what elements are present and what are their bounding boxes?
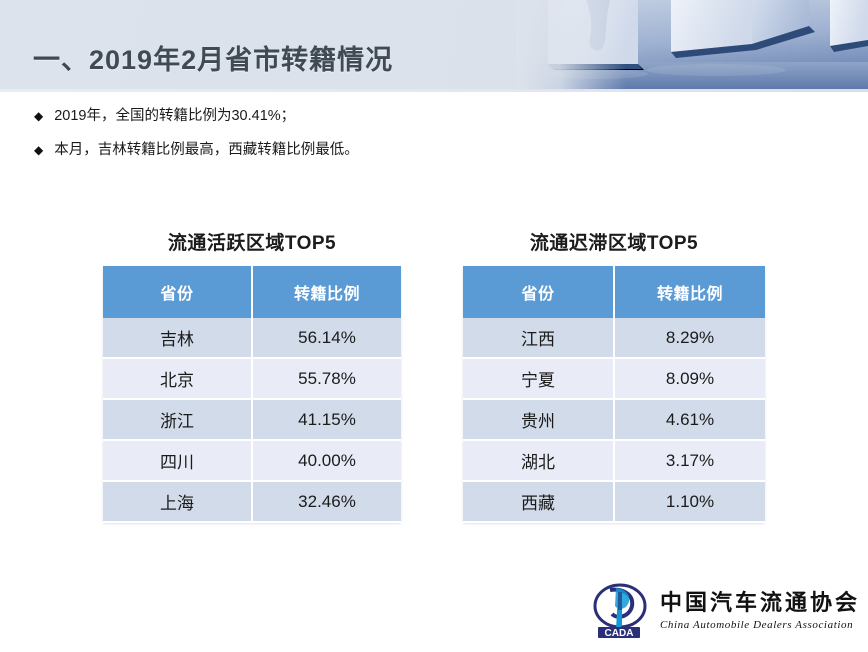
- cell-province: 四川: [103, 440, 252, 481]
- table-row: 上海 32.46%: [103, 481, 401, 522]
- lagging-regions-table: 省份 转籍比例 江西 8.29% 宁夏 8.09% 贵州 4.61%: [463, 266, 765, 523]
- cell-province: 江西: [463, 318, 614, 358]
- cell-ratio: 32.46%: [252, 481, 401, 522]
- cell-province: 湖北: [463, 440, 614, 481]
- cada-emblem-icon: CADA: [592, 580, 654, 642]
- cell-province: 宁夏: [463, 358, 614, 399]
- list-item: ◆ 2019年，全国的转籍比例为30.41%；: [34, 105, 674, 127]
- table-row: 北京 55.78%: [103, 358, 401, 399]
- lagging-regions-title: 流通迟滞区域TOP5: [463, 228, 765, 255]
- svg-text:CADA: CADA: [605, 628, 634, 639]
- cell-ratio: 55.78%: [252, 358, 401, 399]
- table-row: 湖北 3.17%: [463, 440, 765, 481]
- cell-province: 上海: [103, 481, 252, 522]
- table-row: 吉林 56.14%: [103, 318, 401, 358]
- column-header-province: 省份: [463, 266, 614, 318]
- cell-province: 浙江: [103, 399, 252, 440]
- table-row: 西藏 1.10%: [463, 481, 765, 522]
- cada-logo: CADA 中国汽车流通协会 China Automobile Dealers A…: [592, 576, 860, 646]
- cell-ratio: 8.29%: [614, 318, 765, 358]
- table-header-row: 省份 转籍比例: [103, 266, 401, 318]
- active-regions-table: 省份 转籍比例 吉林 56.14% 北京 55.78% 浙江 41.15%: [103, 266, 401, 523]
- active-regions-title: 流通活跃区域TOP5: [103, 228, 401, 255]
- cell-ratio: 40.00%: [252, 440, 401, 481]
- active-regions-block: 流通活跃区域TOP5 省份 转籍比例 吉林 56.14% 北京 55.78% 浙…: [103, 228, 401, 523]
- table-row: 贵州 4.61%: [463, 399, 765, 440]
- cada-logo-icon: CADA: [592, 580, 654, 642]
- diamond-bullet-icon: ◆: [34, 139, 43, 161]
- artwork-fade: [516, 0, 626, 90]
- blue-cubes-photo: [516, 0, 868, 90]
- column-header-ratio: 转籍比例: [252, 266, 401, 318]
- cell-province: 吉林: [103, 318, 252, 358]
- cell-province: 贵州: [463, 399, 614, 440]
- cell-province: 北京: [103, 358, 252, 399]
- header-band: 一、2019年2月省市转籍情况: [0, 0, 868, 92]
- cada-name-cn: 中国汽车流通协会: [660, 591, 860, 615]
- bullet-text: 2019年，全国的转籍比例为30.41%；: [54, 105, 295, 127]
- diamond-bullet-icon: ◆: [34, 105, 43, 127]
- cell-ratio: 56.14%: [252, 318, 401, 358]
- lagging-regions-block: 流通迟滞区域TOP5 省份 转籍比例 江西 8.29% 宁夏 8.09% 贵州: [463, 228, 765, 523]
- table-header-row: 省份 转籍比例: [463, 266, 765, 318]
- bullet-text: 本月，吉林转籍比例最高，西藏转籍比例最低。: [54, 139, 359, 161]
- cell-ratio: 8.09%: [614, 358, 765, 399]
- cada-name-en: China Automobile Dealers Association: [660, 619, 860, 631]
- table-row: 四川 40.00%: [103, 440, 401, 481]
- list-item: ◆ 本月，吉林转籍比例最高，西藏转籍比例最低。: [34, 139, 674, 161]
- column-header-ratio: 转籍比例: [614, 266, 765, 318]
- cell-province: 西藏: [463, 481, 614, 522]
- table-row: 宁夏 8.09%: [463, 358, 765, 399]
- page-title: 一、2019年2月省市转籍情况: [33, 38, 393, 77]
- cell-ratio: 1.10%: [614, 481, 765, 522]
- cell-ratio: 4.61%: [614, 399, 765, 440]
- table-row: 浙江 41.15%: [103, 399, 401, 440]
- table-row: 江西 8.29%: [463, 318, 765, 358]
- cell-ratio: 3.17%: [614, 440, 765, 481]
- bullet-list: ◆ 2019年，全国的转籍比例为30.41%； ◆ 本月，吉林转籍比例最高，西藏…: [34, 105, 674, 173]
- column-header-province: 省份: [103, 266, 252, 318]
- cada-logo-text: 中国汽车流通协会 China Automobile Dealers Associ…: [660, 591, 860, 630]
- cell-ratio: 41.15%: [252, 399, 401, 440]
